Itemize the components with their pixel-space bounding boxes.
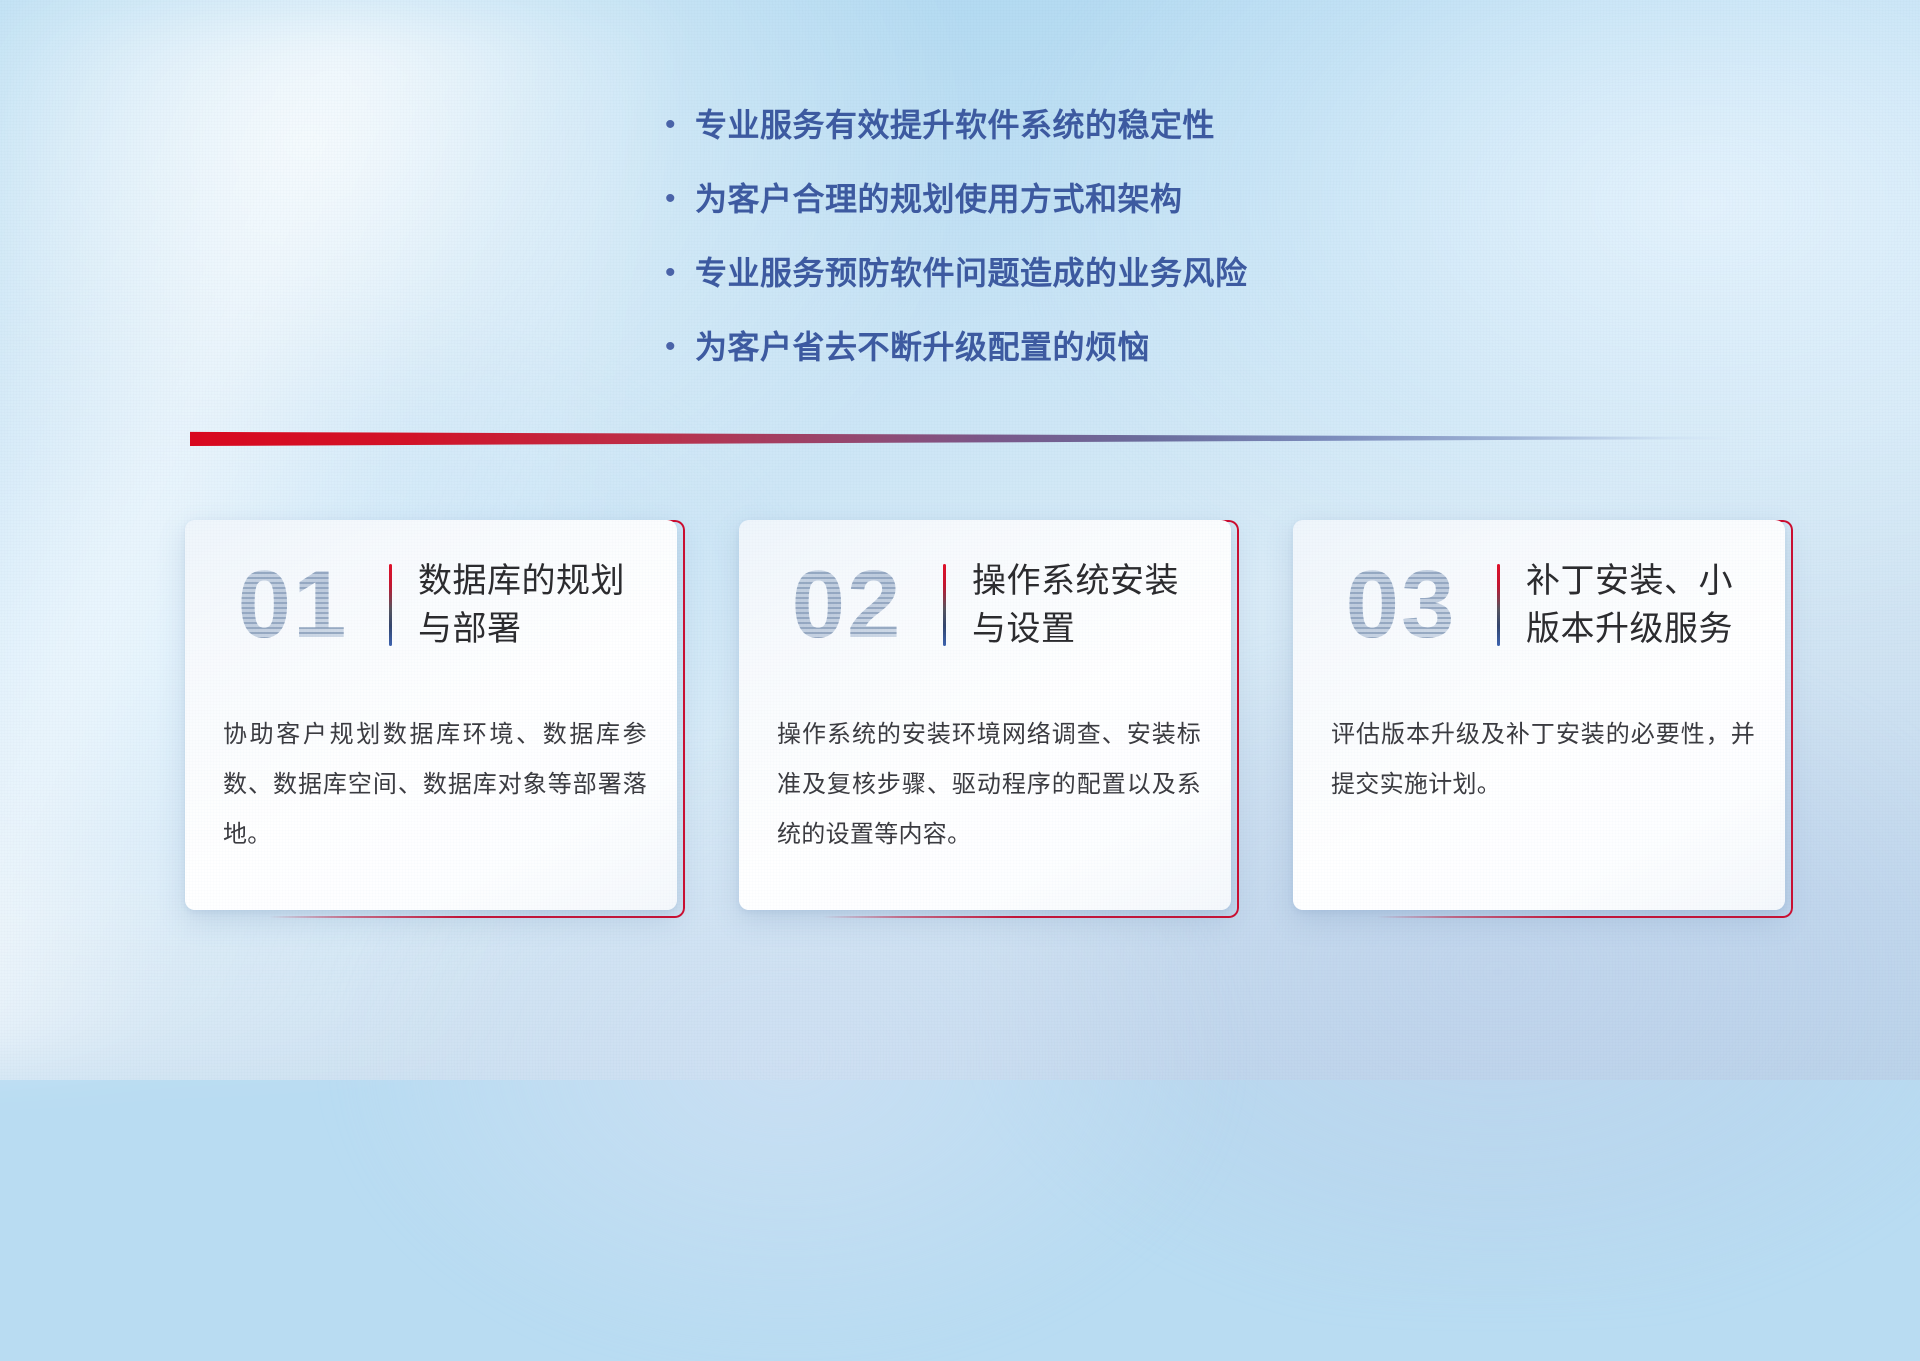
- card-title: 补丁安装、小版本升级服务: [1526, 557, 1766, 653]
- card-description: 评估版本升级及补丁安装的必要性，并提交实施计划。: [1331, 710, 1755, 810]
- card-number-watermark: 01: [203, 557, 383, 653]
- card-surface: 03 补丁安装、小版本升级服务 评估版本升级及补丁安装的必要性，并提交实施计划。: [1293, 520, 1785, 910]
- card-vertical-rule: [943, 564, 946, 646]
- card-vertical-rule: [1497, 564, 1500, 646]
- card-title: 操作系统安装与设置: [972, 557, 1212, 653]
- list-item: • 为客户合理的规划使用方式和架构: [665, 178, 1525, 220]
- bullet-text: 专业服务有效提升软件系统的稳定性: [695, 104, 1215, 146]
- section-divider: [190, 430, 1730, 446]
- card-header: 03 补丁安装、小版本升级服务: [1293, 520, 1785, 690]
- card-title: 数据库的规划与部署: [418, 557, 658, 653]
- benefits-bullet-list: • 专业服务有效提升软件系统的稳定性 • 为客户合理的规划使用方式和架构 • 专…: [665, 104, 1525, 400]
- card-number-watermark: 02: [757, 557, 937, 653]
- card-header: 01 数据库的规划与部署: [185, 520, 677, 690]
- tapered-rule-shape: [190, 430, 1730, 446]
- card-description: 协助客户规划数据库环境、数据库参数、数据库空间、数据库对象等部署落地。: [223, 710, 647, 860]
- list-item: • 专业服务有效提升软件系统的稳定性: [665, 104, 1525, 146]
- card-number-watermark: 03: [1311, 557, 1491, 653]
- service-card-02[interactable]: 02 操作系统安装与设置 操作系统的安装环境网络调查、安装标准及复核步骤、驱动程…: [739, 520, 1231, 910]
- card-vertical-rule: [389, 564, 392, 646]
- bullet-text: 专业服务预防软件问题造成的业务风险: [695, 252, 1248, 294]
- bullet-dot-icon: •: [665, 326, 695, 368]
- card-description: 操作系统的安装环境网络调查、安装标准及复核步骤、驱动程序的配置以及系统的设置等内…: [777, 710, 1201, 860]
- service-card-row: 01 数据库的规划与部署 协助客户规划数据库环境、数据库参数、数据库空间、数据库…: [185, 520, 1785, 910]
- bullet-dot-icon: •: [665, 104, 695, 146]
- service-card-01[interactable]: 01 数据库的规划与部署 协助客户规划数据库环境、数据库参数、数据库空间、数据库…: [185, 520, 677, 910]
- list-item: • 专业服务预防软件问题造成的业务风险: [665, 252, 1525, 294]
- card-header: 02 操作系统安装与设置: [739, 520, 1231, 690]
- card-surface: 02 操作系统安装与设置 操作系统的安装环境网络调查、安装标准及复核步骤、驱动程…: [739, 520, 1231, 910]
- bullet-dot-icon: •: [665, 252, 695, 294]
- bullet-text: 为客户省去不断升级配置的烦恼: [695, 326, 1150, 368]
- service-card-03[interactable]: 03 补丁安装、小版本升级服务 评估版本升级及补丁安装的必要性，并提交实施计划。: [1293, 520, 1785, 910]
- bullet-dot-icon: •: [665, 178, 695, 220]
- card-surface: 01 数据库的规划与部署 协助客户规划数据库环境、数据库参数、数据库空间、数据库…: [185, 520, 677, 910]
- bullet-text: 为客户合理的规划使用方式和架构: [695, 178, 1183, 220]
- list-item: • 为客户省去不断升级配置的烦恼: [665, 326, 1525, 368]
